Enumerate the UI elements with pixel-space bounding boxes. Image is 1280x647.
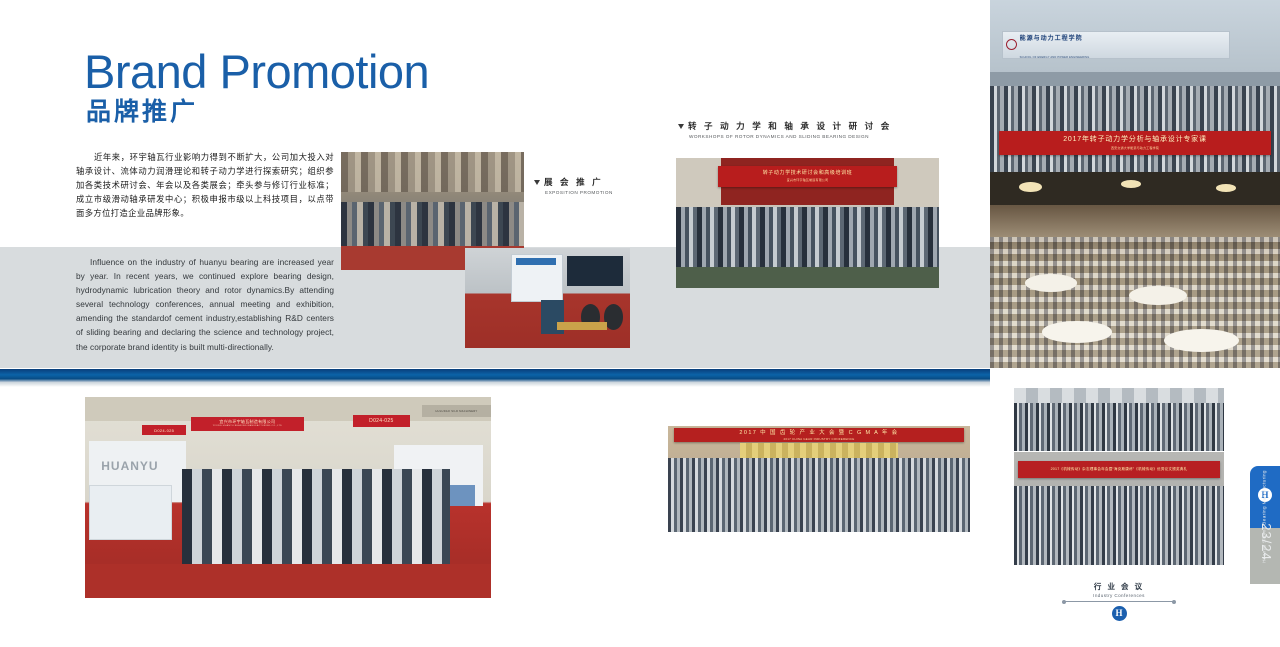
booth-number-right: D024-025	[353, 415, 410, 427]
banner-text: 2017 中 国 齿 轮 产 业 大 会 暨 C G M A 年 会	[674, 429, 964, 437]
caption-exposition-chinese: 展 会 推 广	[544, 176, 603, 188]
photo-huanyu-exhibition-booth: 宜兴市环宇轴瓦制造有限公司 YIXING HUANYU BEARING MANU…	[85, 397, 491, 598]
caption-marker-icon	[534, 180, 540, 185]
page-title-chinese: 品牌推广	[86, 100, 198, 125]
caption-exposition-english: EXPOSITION PROMOTION	[545, 190, 613, 195]
blue-rule-shadow	[0, 382, 990, 387]
booth-number-text: D024-025	[154, 428, 174, 433]
page-number: 23/24	[1254, 514, 1274, 570]
caption-marker-icon	[678, 124, 684, 129]
neighbour-sign-text: HULUDAO SILD MACHINERY	[435, 410, 477, 413]
university-seal-icon	[1006, 39, 1017, 50]
banner-award-ceremony: 2017《机械传动》杂志理事会年会暨“海克斯康杯”《机械传动》优秀论文颁奖典礼	[1018, 461, 1220, 478]
banner-rotor-dynamics-seminar: 转子动力学技术研讨会和高级培训班 宜兴市环宇轴瓦制造有限公司	[718, 166, 897, 187]
photo-school-of-energy-group: 能源与动力工程学院 SCHOOL OF ENERGY AND POWER ENG…	[990, 0, 1280, 172]
booth-sign-company: 宜兴市环宇轴瓦制造有限公司 YIXING HUANYU BEARING MANU…	[191, 417, 305, 431]
sign-school-of-energy: 能源与动力工程学院 SCHOOL OF ENERGY AND POWER ENG…	[1002, 31, 1230, 59]
photo-rotor-dynamics-seminar: 转子动力学技术研讨会和高级培训班 宜兴市环宇轴瓦制造有限公司	[676, 158, 939, 288]
caption-industry-english: Industry Conferences	[1059, 593, 1179, 598]
booth-company-english: YIXING HUANYU BEARING MANUFACTURING CO.,…	[213, 425, 282, 428]
caption-industry-chinese: 行 业 会 议	[1059, 581, 1179, 592]
caption-industry-conferences: 行 业 会 议 Industry Conferences	[1059, 581, 1179, 621]
banner-cgma-annual-meeting: 2017 中 国 齿 轮 产 业 大 会 暨 C G M A 年 会 2017 …	[674, 428, 964, 442]
banner-subtext: 宜兴市环宇轴瓦制造有限公司	[718, 178, 897, 183]
booth-sign-neighbour: HULUDAO SILD MACHINERY	[422, 405, 491, 417]
page-title-english: Brand Promotion	[84, 48, 429, 95]
caption-workshops-english: WORKSHOPS OF ROTOR DYNAMICS AND SLIDING …	[689, 134, 892, 139]
photo-exhibition-product-demo	[465, 248, 630, 348]
banner-text: 转子动力学技术研讨会和高级培训班	[718, 170, 897, 178]
brochure-page: Brand Promotion 品牌推广 近年来，环宇轴瓦行业影响力得到不断扩大…	[0, 0, 1280, 647]
body-paragraph-chinese: 近年来，环宇轴瓦行业影响力得到不断扩大，公司加大投入对轴承设计、流体动力润滑理论…	[76, 150, 334, 220]
sign-school-chinese: 能源与动力工程学院	[1020, 36, 1083, 42]
booth-brand-label: HUANYU	[101, 459, 158, 473]
caption-workshops: 转 子 动 力 学 和 轴 承 设 计 研 讨 会 WORKSHOPS OF R…	[678, 120, 892, 139]
banner-expert-course-2017: 2017年转子动力学分析与轴承设计专家课 西安交通大学能源与动力工程学院	[999, 131, 1272, 155]
photo-award-ceremony-group: 2017《机械传动》杂志理事会年会暨“海克斯康杯”《机械传动》优秀论文颁奖典礼	[1014, 452, 1224, 565]
booth-number-text: D024-025	[369, 418, 393, 424]
photo-industry-association-group	[1014, 388, 1224, 451]
caption-exposition-promotion: 展 会 推 广 EXPOSITION PROMOTION	[534, 176, 613, 195]
body-paragraph-english: Influence on the industry of huanyu bear…	[76, 255, 334, 354]
photo-conference-hall-interior	[990, 172, 1280, 368]
banner-subtext: 2017 CHINA GEAR INDUSTRY CONFERENCE	[674, 437, 964, 442]
sign-school-english: SCHOOL OF ENERGY AND POWER ENGINEERING	[1020, 56, 1090, 59]
page-tab[interactable]: Huanyu Sliding Bearing Manufacturing 23/…	[1250, 466, 1280, 584]
huanyu-logo-icon	[1112, 606, 1127, 621]
banner-text: 2017年转子动力学分析与轴承设计专家课	[999, 135, 1272, 146]
banner-text: 2017《机械传动》杂志理事会年会暨“海克斯康杯”《机械传动》优秀论文颁奖典礼	[1051, 467, 1188, 472]
caption-divider-rule	[1064, 601, 1174, 602]
booth-number-left: D024-025	[142, 425, 187, 435]
banner-subtext: 西安交通大学能源与动力工程学院	[999, 146, 1272, 151]
blue-divider-rule	[0, 369, 990, 382]
photo-cgma-annual-meeting: 2017 中 国 齿 轮 产 业 大 会 暨 C G M A 年 会 2017 …	[668, 426, 970, 532]
caption-workshops-chinese: 转 子 动 力 学 和 轴 承 设 计 研 讨 会	[688, 120, 892, 132]
